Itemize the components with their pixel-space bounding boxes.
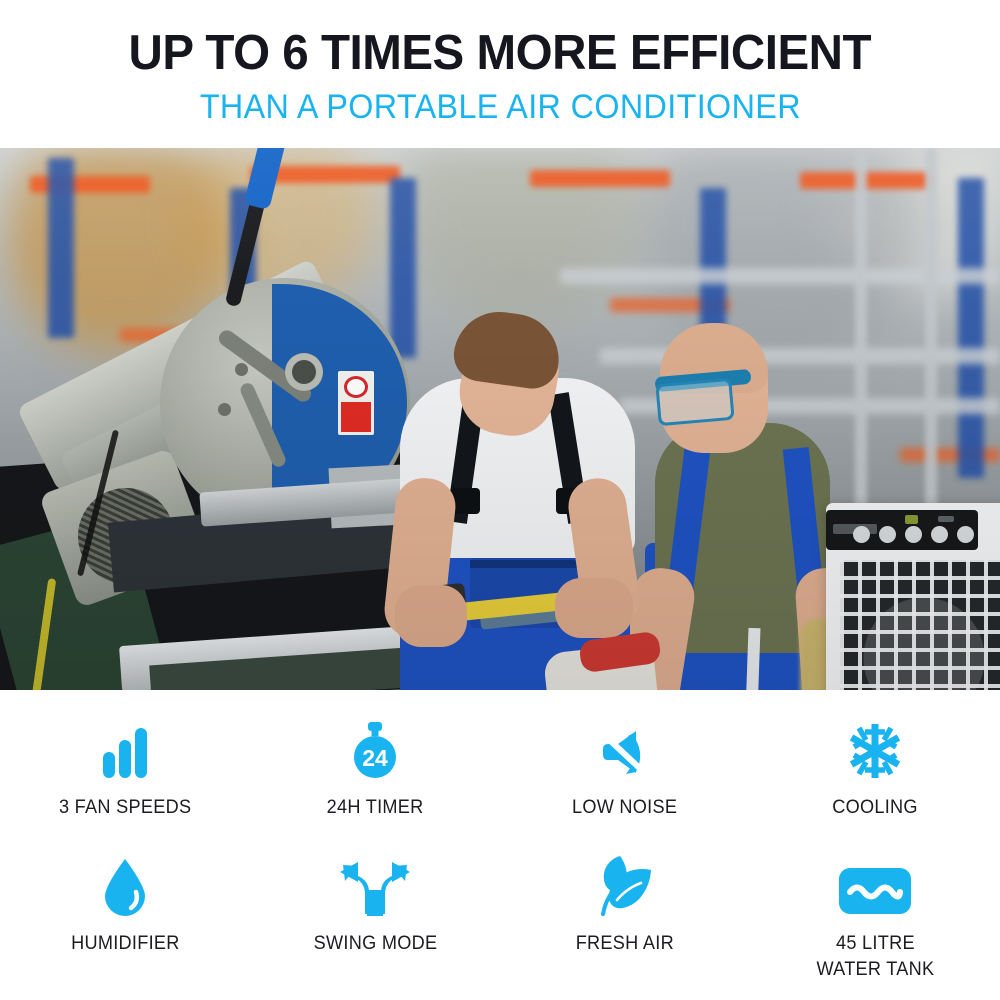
saw-bolt [218, 403, 231, 416]
swing-arrows-icon [338, 854, 412, 916]
feature-grid: 3 FAN SPEEDS 24 24H TIMER [0, 690, 1000, 1000]
worker1-hand [395, 585, 467, 647]
water-droplet-icon [102, 854, 148, 916]
feature-label: SWING MODE [313, 930, 437, 956]
cooler-knob[interactable] [879, 526, 896, 543]
racking-post [48, 158, 74, 338]
feature-swing-mode[interactable]: SWING MODE [250, 854, 500, 982]
worker1-pocket-zip [470, 560, 580, 568]
saw-bolt [235, 363, 248, 376]
page-subtitle: THAN A PORTABLE AIR CONDITIONER [199, 89, 800, 125]
feature-label: FRESH AIR [576, 930, 674, 956]
warning-sticker-text-block [341, 402, 371, 432]
feature-row-1: 3 FAN SPEEDS 24 24H TIMER [0, 718, 1000, 820]
feature-label: 45 LITRE WATER TANK [816, 930, 934, 982]
feature-humidifier[interactable]: HUMIDIFIER [0, 854, 250, 982]
product-feature-banner: UP TO 6 TIMES MORE EFFICIENT THAN A PORT… [0, 0, 1000, 1000]
feature-fresh-air[interactable]: FRESH AIR [500, 854, 750, 982]
stopwatch-24h-icon: 24 [346, 718, 404, 780]
hero-photo [0, 148, 1000, 690]
feature-label: 3 FAN SPEEDS [59, 794, 191, 820]
racking-post [958, 178, 984, 478]
racking-post [390, 178, 416, 358]
muted-speaker-icon [596, 718, 654, 780]
racking-beam [530, 170, 670, 187]
warning-sticker-symbol [344, 376, 368, 398]
feature-label: 24H TIMER [327, 794, 424, 820]
cooler-knob[interactable] [853, 526, 870, 543]
feature-3-fan-speeds[interactable]: 3 FAN SPEEDS [0, 718, 250, 820]
svg-text:24: 24 [362, 745, 388, 771]
cooler-display [905, 515, 918, 524]
feature-water-tank[interactable]: 45 LITRE WATER TANK [750, 854, 1000, 982]
feature-label: LOW NOISE [572, 794, 677, 820]
safety-glasses-lens [655, 378, 734, 426]
racking-beam [900, 448, 1000, 462]
snowflake-icon [846, 718, 904, 780]
cooler-knob[interactable] [931, 526, 948, 543]
cooler-fan-grille [840, 560, 1000, 690]
feature-low-noise[interactable]: LOW NOISE [500, 718, 750, 820]
feature-label: HUMIDIFIER [71, 930, 180, 956]
saw-spindle [285, 353, 323, 391]
leaf-icon [595, 854, 655, 916]
fan-speed-bars-icon [95, 718, 155, 780]
feature-24h-timer[interactable]: 24 24H TIMER [250, 718, 500, 820]
feature-cooling[interactable]: COOLING [750, 718, 1000, 820]
ladder-rail [925, 148, 937, 548]
feature-row-2: HUMIDIFIER SWING MODE [0, 854, 1000, 982]
header-banner: UP TO 6 TIMES MORE EFFICIENT THAN A PORT… [0, 0, 1000, 148]
cooler-indicator [938, 516, 954, 522]
feature-label: COOLING [832, 794, 918, 820]
cooler-knob[interactable] [957, 526, 974, 543]
cooler-knob[interactable] [905, 526, 922, 543]
water-tank-icon [837, 854, 913, 916]
worker1-hand [555, 578, 633, 638]
shelf-rail [600, 348, 1000, 364]
page-title: UP TO 6 TIMES MORE EFFICIENT [129, 27, 872, 79]
